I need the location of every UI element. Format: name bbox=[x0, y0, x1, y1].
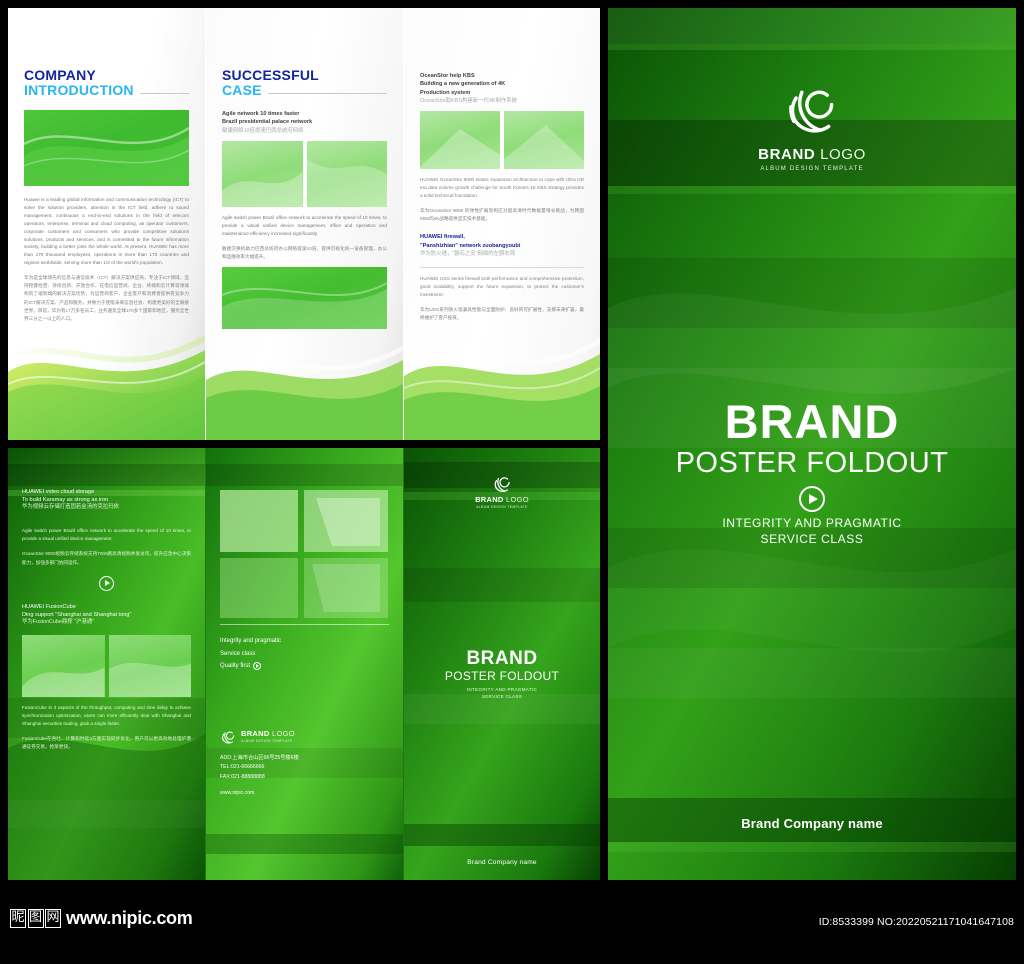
brand-logo-subtitle: ALBUM DESIGN TEMPLATE bbox=[241, 739, 295, 743]
trifold-panel-oceanstor-firewall: OceanStor help KBS Building a new genera… bbox=[404, 8, 600, 440]
value-list: Integrity and pragmatic Service class Qu… bbox=[220, 624, 389, 673]
play-icon[interactable] bbox=[799, 486, 825, 512]
heading-line-1: COMPANY bbox=[24, 68, 189, 83]
image-id-text: ID:8533399 NO:20220521171041647108 bbox=[819, 916, 1014, 928]
case1-en-line1: OceanStor help KBS bbox=[420, 72, 584, 80]
brand-logo-light: LOGO bbox=[506, 495, 529, 504]
contact-address: ADD:上海市合山区66号25号楼6楼 bbox=[220, 754, 389, 764]
company-body-english: Huawei is a leading global information a… bbox=[24, 196, 189, 267]
brand-logo-bold: BRAND bbox=[475, 495, 504, 504]
poster-logo-light: LOGO bbox=[820, 146, 866, 163]
globe-swirl-icon bbox=[220, 729, 236, 745]
firewall-body-chinese: 华为USG系列防火墙兼具性能与全面防护、良好的可扩展性，支撑未来扩容，最终维护了… bbox=[420, 306, 584, 322]
brand-logo-light: LOGO bbox=[272, 729, 295, 738]
poster-title-brand: BRAND bbox=[608, 398, 1016, 446]
heading-rule bbox=[140, 93, 189, 94]
video-cloud-title: HUAWEI video cloud storage To build Kara… bbox=[22, 488, 191, 512]
contact-block: ADD:上海市合山区66号25号楼6楼 TEL:021-66666666 FAX… bbox=[220, 754, 389, 799]
case-title-oceanstor: OceanStor help KBS Building a new genera… bbox=[420, 72, 584, 105]
hero-image-company bbox=[24, 110, 189, 186]
value-item-integrity: Integrity and pragmatic bbox=[220, 635, 389, 648]
poster-brand-logo: BRAND LOGO ALBUM DESIGN TEMPLATE bbox=[608, 80, 1016, 172]
case-title-en-line1: Agile network 10 times faster bbox=[222, 110, 387, 118]
green-trifold-brochure: HUAWEI video cloud storage To build Kara… bbox=[8, 448, 600, 880]
case-title-cn: 敏捷网络10倍提速巴西总统府网络 bbox=[222, 127, 387, 135]
title-cn: 华为FusionCube鼎撑 “沪港通” bbox=[22, 619, 191, 627]
title-en-line2: To build Karamay as strong as iron bbox=[22, 496, 191, 504]
main-poster-cover: BRAND LOGO ALBUM DESIGN TEMPLATE BRAND P… bbox=[608, 8, 1016, 880]
contact-tel: TEL:021-66666666 bbox=[220, 763, 389, 773]
case-title-en-line2: Brazil presidential palace network bbox=[222, 118, 387, 126]
nipic-char-3: 网 bbox=[45, 909, 61, 928]
brand-logo-block: BRAND LOGO ALBUM DESIGN TEMPLATE bbox=[220, 729, 389, 745]
play-icon[interactable] bbox=[253, 662, 261, 670]
firewall-body-english: HUAWEI USG series firewall both performa… bbox=[420, 275, 584, 299]
heading-rule bbox=[268, 93, 387, 94]
fusioncube-body-english: FusionCube in 3 aspects of the throughpu… bbox=[22, 704, 191, 729]
trifold-panel-successful-case: SUCCESSFUL CASE Agile network 10 times f… bbox=[206, 8, 403, 440]
title-en-line1: HUAWEI video cloud storage bbox=[22, 488, 191, 496]
watermark-footer-bar: 昵 图 网 www.nipic.com ID:8533399 NO:202205… bbox=[0, 884, 1024, 964]
video-cloud-body-chinese: OceanStor 9000视频云存储系统支持7000路高清视频并发访问，提升应… bbox=[22, 550, 191, 566]
nipic-logo-icon: 昵 图 网 bbox=[10, 909, 61, 928]
heading-line-2: INTRODUCTION bbox=[24, 83, 134, 98]
nipic-watermark: 昵 图 网 www.nipic.com bbox=[10, 909, 192, 928]
case-thumbnail bbox=[307, 141, 388, 207]
poster-footer-company: Brand Company name bbox=[608, 816, 1016, 831]
nipic-url[interactable]: www.nipic.com bbox=[66, 909, 192, 928]
value-item-service: Service class bbox=[220, 648, 389, 661]
brand-logo-bold: BRAND bbox=[241, 729, 270, 738]
brand-logo-subtitle: ALBUM DESIGN TEMPLATE bbox=[475, 505, 529, 509]
poster-canvas: COMPANY INTRODUCTION Huawei is a leading… bbox=[0, 0, 1024, 964]
cover-brand-line3: INTEGRITY AND PRAGMATIC bbox=[418, 687, 586, 694]
case-thumbnail-row bbox=[222, 141, 387, 207]
contact-fax: FAX:021-88888888 bbox=[220, 773, 389, 783]
oceanstor-body-english: HUAWEI OceanStor 9000 elastic expansion … bbox=[420, 176, 584, 200]
title-cn: 华为视频云存储打造固若金汤的克拉玛依 bbox=[22, 504, 191, 512]
title-en-line2: Ding support "Shanghai and Shanghai tong… bbox=[22, 611, 191, 619]
case-title-firewall: HUAWEI firewall, "Panshizhian" network z… bbox=[420, 233, 584, 258]
case-thumbnail bbox=[109, 635, 192, 697]
case-thumbnail bbox=[420, 111, 500, 169]
poster-title-foldout: POSTER FOLDOUT bbox=[608, 446, 1016, 481]
section-heading-successful-case: SUCCESSFUL CASE bbox=[222, 68, 387, 98]
case-image-large bbox=[222, 267, 387, 329]
play-icon[interactable] bbox=[99, 576, 114, 591]
poster-subtitle-line1: INTEGRITY AND PRAGMATIC bbox=[608, 516, 1016, 532]
fusioncube-thumbnail-row bbox=[22, 635, 191, 697]
cover-brand-line4: SERVICE CLASS bbox=[418, 694, 586, 701]
case-body-english: Agile switch power Brazil office network… bbox=[222, 214, 387, 238]
trifold-panel-company-introduction: COMPANY INTRODUCTION Huawei is a leading… bbox=[8, 8, 205, 440]
title-en-line1: HUAWEI FusionCube bbox=[22, 603, 191, 611]
heading-line-2: CASE bbox=[222, 83, 262, 98]
divider bbox=[220, 624, 389, 625]
case2-cn: 华为防火墙，“磐石之安”网络的左膀右臂 bbox=[420, 250, 584, 258]
nipic-char-2: 图 bbox=[28, 909, 44, 928]
case-body-chinese: 敏捷交换机助力巴西总统府办公网络提速10倍，提供可视化统一设备管理，办公和运维效… bbox=[222, 245, 387, 261]
brand-logo-block: BRAND LOGO ALBUM DESIGN TEMPLATE bbox=[475, 474, 529, 509]
oceanstor-body-chinese: 华为OceanStor 9000 的弹性扩展架构应对超高清时代数据量增长挑战，为… bbox=[420, 207, 584, 223]
poster-main-title-block: BRAND POSTER FOLDOUT INTEGRITY AND PRAGM… bbox=[608, 398, 1016, 548]
case-thumbnail bbox=[504, 111, 584, 169]
poster-logo-subtitle: ALBUM DESIGN TEMPLATE bbox=[608, 166, 1016, 172]
value-item-quality: Quality first bbox=[220, 660, 389, 673]
case-thumbnail bbox=[22, 635, 105, 697]
nipic-char-1: 昵 bbox=[10, 909, 26, 928]
case2-en-line1: HUAWEI firewall, bbox=[420, 233, 584, 241]
green-panel-cover: BRAND LOGO ALBUM DESIGN TEMPLATE BRAND P… bbox=[404, 448, 600, 880]
fusioncube-title: HUAWEI FusionCube Ding support "Shanghai… bbox=[22, 603, 191, 627]
divider bbox=[420, 267, 584, 268]
value-item-quality-label: Quality first bbox=[220, 663, 250, 669]
case1-cn: OceanStor助KBS构建新一代4K制作系统 bbox=[420, 97, 584, 105]
cover-brand-block: BRAND POSTER FOLDOUT INTEGRITY AND PRAGM… bbox=[418, 649, 586, 701]
globe-swirl-icon bbox=[783, 80, 841, 138]
globe-swirl-icon bbox=[492, 474, 512, 494]
heading-line-1: SUCCESSFUL bbox=[222, 68, 387, 83]
cover-brand-line1: BRAND bbox=[418, 649, 586, 669]
green-panel-huawei-cases: HUAWEI video cloud storage To build Kara… bbox=[8, 448, 205, 880]
fusioncube-body-chinese: FusionCube在吞吐、计算和时延3方面实现同步优化，用户可以更高效地处理沪… bbox=[22, 735, 191, 751]
case-thumbnail bbox=[222, 141, 303, 207]
poster-subtitle-line2: SERVICE CLASS bbox=[608, 532, 1016, 548]
case1-en-line3: Production system bbox=[420, 89, 584, 97]
green-panel-values-contact: Integrity and pragmatic Service class Qu… bbox=[206, 448, 403, 880]
company-body-chinese: 华为是全球领先的信息与通信技术（ICT）解决方案供应商，专注于ICT领域，坚持稳… bbox=[24, 274, 189, 323]
green-trifold-footer: Brand Company name bbox=[404, 859, 600, 866]
case-title-agile-network: Agile network 10 times faster Brazil pre… bbox=[222, 110, 387, 135]
cover-brand-line2: POSTER FOLDOUT bbox=[418, 669, 586, 684]
poster-logo-bold: BRAND bbox=[758, 146, 815, 163]
section-heading-company: COMPANY INTRODUCTION bbox=[24, 68, 189, 98]
case2-en-line2: "Panshizhian" network zuobangyoubi bbox=[420, 242, 584, 250]
case1-en-line2: Building a new generation of 4K bbox=[420, 80, 584, 88]
oceanstor-thumbnail-row bbox=[420, 111, 584, 169]
white-trifold-brochure: COMPANY INTRODUCTION Huawei is a leading… bbox=[8, 8, 600, 440]
video-cloud-body-english: Agile switch power Brazil office network… bbox=[22, 527, 191, 543]
contact-website[interactable]: www.nipic.com bbox=[220, 789, 389, 799]
